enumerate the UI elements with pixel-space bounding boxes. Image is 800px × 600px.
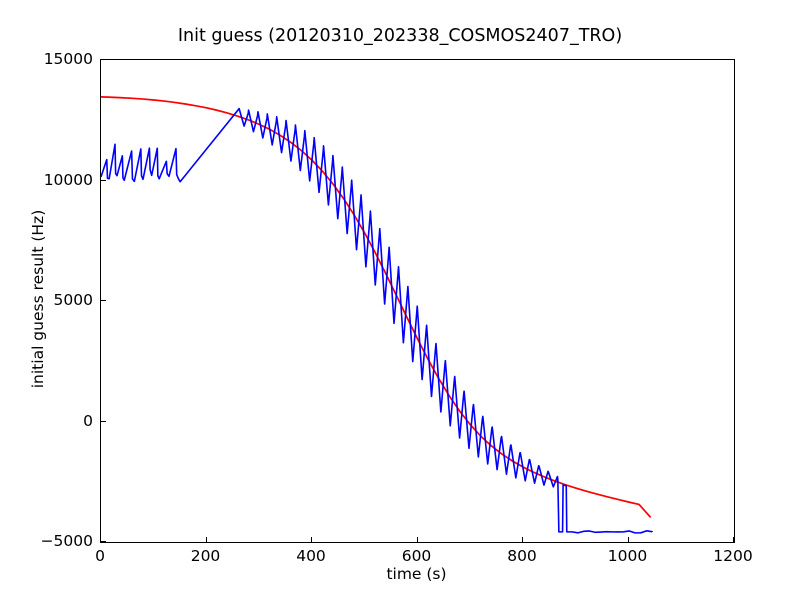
y-axis-label: initial guess result (Hz) [29, 89, 47, 509]
init-guess-raw-line [101, 109, 652, 533]
x-tick-mark [417, 537, 418, 542]
y-tick-mark [101, 59, 106, 60]
y-tick-label: 10000 [44, 171, 93, 189]
plot-axes [100, 59, 735, 543]
x-tick-label: 1200 [713, 547, 752, 565]
y-tick-mark [101, 421, 106, 422]
x-tick-label: 400 [296, 547, 326, 565]
y-tick-label: −5000 [41, 532, 93, 550]
model-fit-line [101, 97, 651, 518]
x-tick-label: 0 [95, 547, 105, 565]
x-tick-label: 800 [507, 547, 537, 565]
plot-canvas [101, 60, 734, 542]
x-tick-label: 1000 [608, 547, 647, 565]
y-tick-mark [101, 180, 106, 181]
y-tick-label: 15000 [44, 50, 93, 68]
page-title: Init guess (20120310_202338_COSMOS2407_T… [0, 26, 800, 46]
x-tick-label: 200 [191, 547, 221, 565]
x-tick-mark [311, 537, 312, 542]
x-tick-mark [522, 537, 523, 542]
y-tick-label: 5000 [54, 291, 93, 309]
x-tick-mark [628, 537, 629, 542]
series-init-guess-raw [101, 109, 652, 533]
y-tick-label: 0 [83, 412, 93, 430]
x-axis-label: time (s) [100, 565, 733, 583]
x-tick-label: 600 [402, 547, 432, 565]
x-tick-mark [206, 537, 207, 542]
x-tick-mark [733, 537, 734, 542]
series-model-fit [101, 97, 651, 518]
y-tick-mark [101, 300, 106, 301]
matplotlib-figure: Init guess (20120310_202338_COSMOS2407_T… [0, 0, 800, 600]
y-tick-mark [101, 541, 106, 542]
